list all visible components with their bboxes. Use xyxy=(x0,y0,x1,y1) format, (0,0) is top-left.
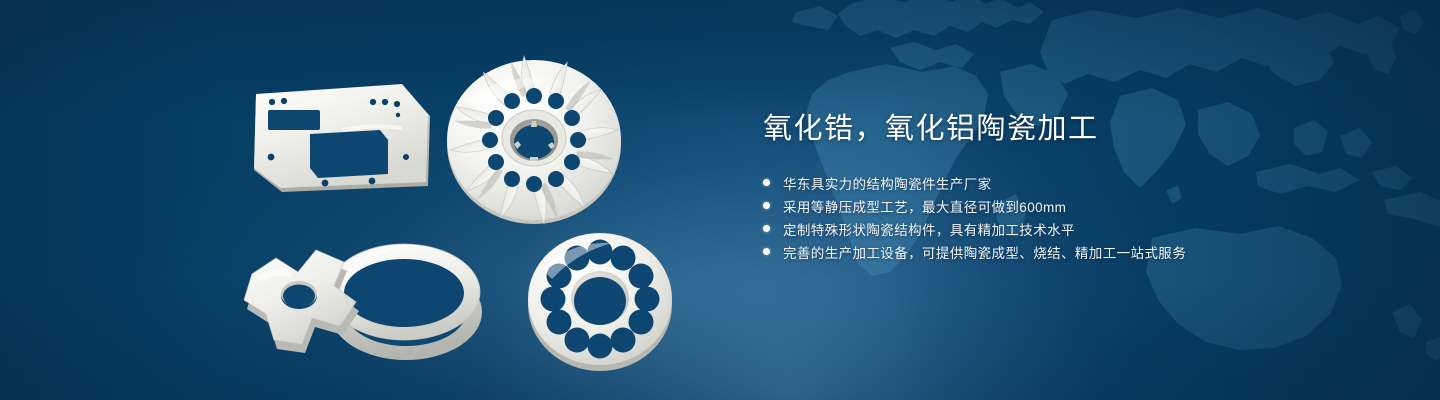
list-item-label: 定制特殊形状陶瓷结构件，具有精加工技术水平 xyxy=(783,219,1075,239)
page-title: 氧化锆，氧化铝陶瓷加工 xyxy=(763,110,1383,148)
list-item: 定制特殊形状陶瓷结构件，具有精加工技术水平 xyxy=(763,217,1383,240)
list-item-label: 华东具实力的结构陶瓷件生产厂家 xyxy=(783,173,992,193)
bullet-dot-icon xyxy=(763,179,770,186)
feature-list: 华东具实力的结构陶瓷件生产厂家 采用等静压成型工艺，最大直径可做到600mm 定… xyxy=(763,171,1383,263)
list-item: 华东具实力的结构陶瓷件生产厂家 xyxy=(763,171,1383,194)
ceramic-impeller xyxy=(445,48,623,228)
bullet-dot-icon xyxy=(763,225,770,232)
list-item-label: 采用等静压成型工艺，最大直径可做到600mm xyxy=(783,196,1066,216)
list-item-label: 完善的生产加工设备，可提供陶瓷成型、烧结、精加工一站式服务 xyxy=(783,242,1186,262)
list-item: 采用等静压成型工艺，最大直径可做到600mm xyxy=(763,194,1383,217)
bullet-dot-icon xyxy=(763,248,770,255)
ceramic-cross-and-rings xyxy=(238,220,518,380)
list-item: 完善的生产加工设备，可提供陶瓷成型、烧结、精加工一站式服务 xyxy=(763,240,1383,263)
bullet-dot-icon xyxy=(763,202,770,209)
ceramic-plate xyxy=(252,82,432,197)
banner-text-block: 氧化锆，氧化铝陶瓷加工 华东具实力的结构陶瓷件生产厂家 采用等静压成型工艺，最大… xyxy=(763,110,1383,263)
ceramic-valve-disc xyxy=(520,225,680,375)
ceramic-processing-banner: 氧化锆，氧化铝陶瓷加工 华东具实力的结构陶瓷件生产厂家 采用等静压成型工艺，最大… xyxy=(0,0,1440,400)
product-photo-group xyxy=(230,40,700,380)
